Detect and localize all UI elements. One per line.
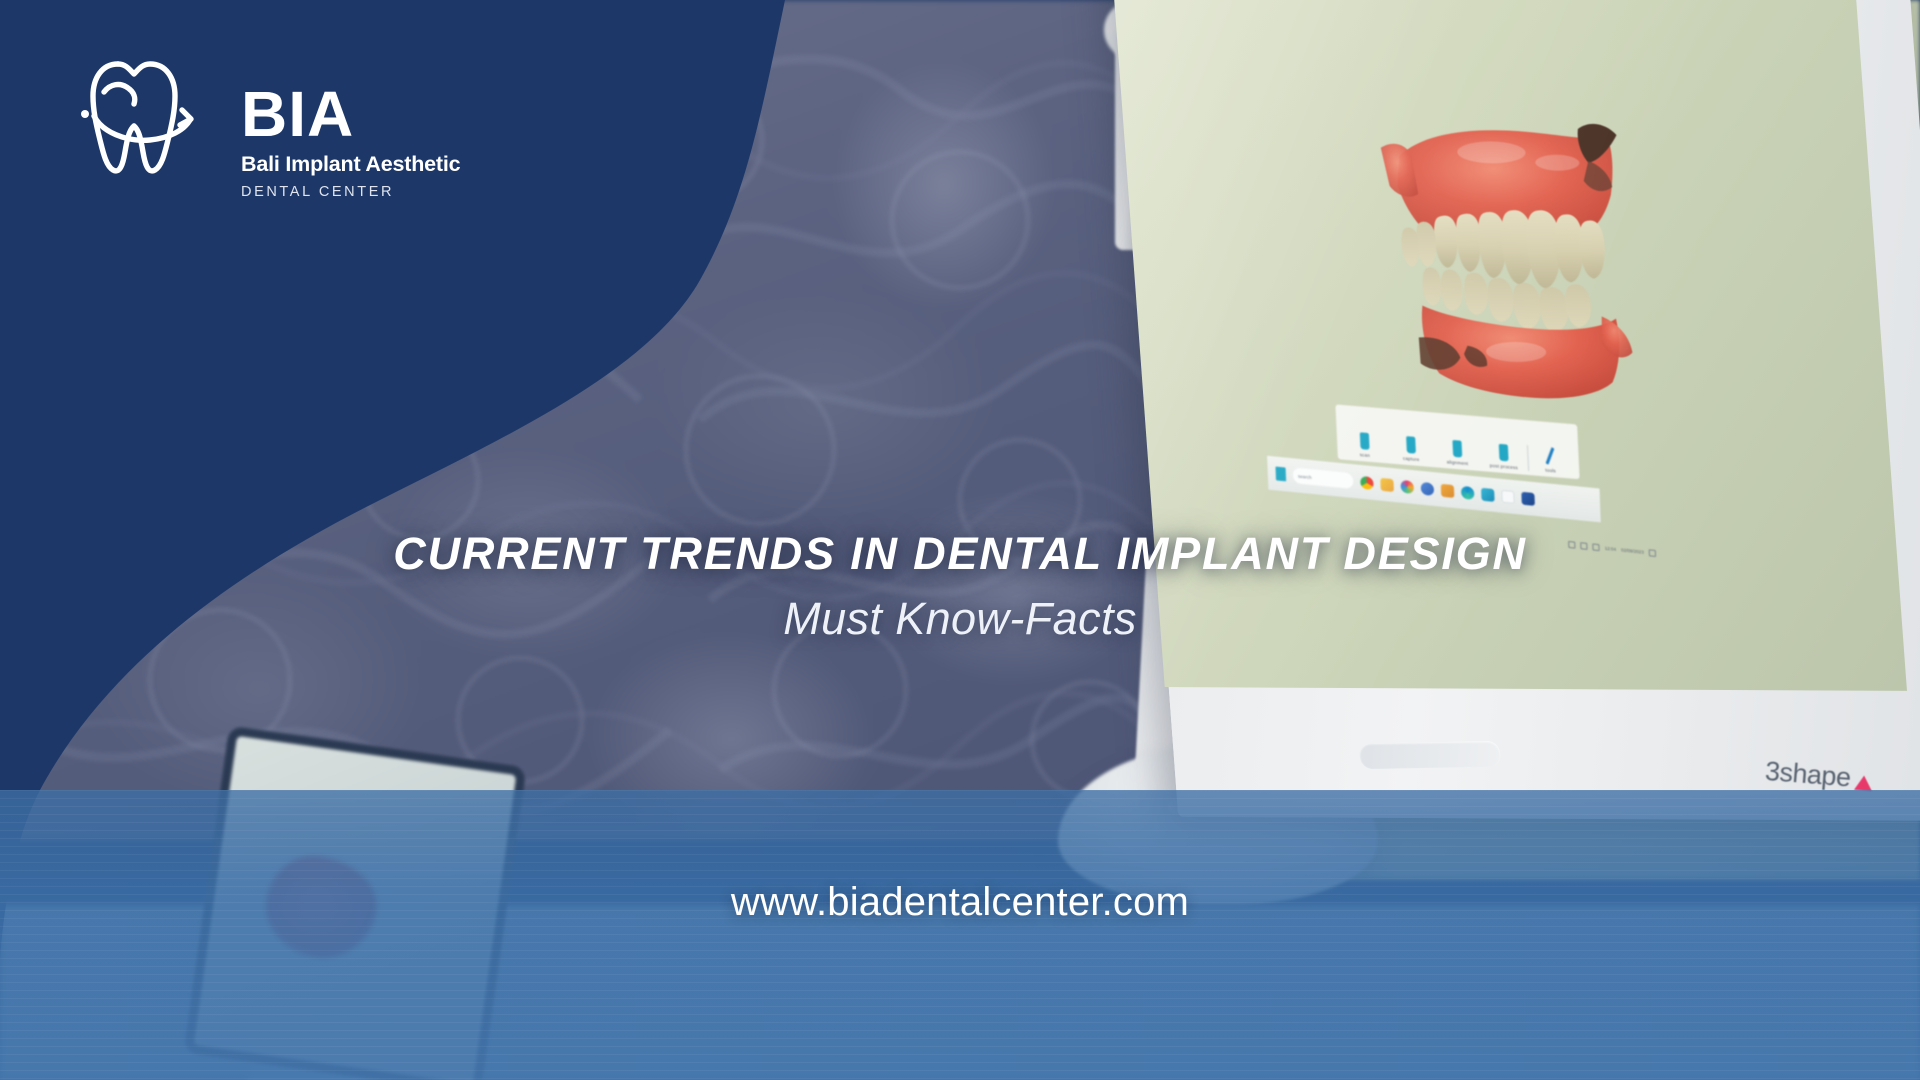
page-subtitle: Must Know-Facts [40, 593, 1880, 645]
banner-canvas: scan capture alignment post process [0, 0, 1920, 1080]
overlay-scanline-texture [0, 790, 1920, 1080]
logo-company-name: Bali Implant Aesthetic [241, 152, 460, 177]
monitor-chin-bar [1359, 741, 1502, 769]
logo-text-block: BIA Bali Implant Aesthetic DENTAL CENTER [241, 48, 460, 200]
logo-initials: BIA [241, 86, 460, 142]
3shape-wordmark: 3shape [1764, 756, 1852, 794]
tooth-with-orbit-icon [72, 48, 227, 183]
magenta-triangle-icon [1854, 775, 1873, 791]
bottom-color-overlay [0, 790, 1920, 1080]
website-url[interactable]: www.biadentalcenter.com [0, 880, 1920, 925]
brand-logo[interactable]: BIA Bali Implant Aesthetic DENTAL CENTER [72, 48, 460, 200]
page-title: CURRENT TRENDS IN DENTAL IMPLANT DESIGN [40, 530, 1880, 579]
logo-descriptor: DENTAL CENTER [241, 184, 460, 200]
headline-block: CURRENT TRENDS IN DENTAL IMPLANT DESIGN … [0, 530, 1920, 645]
